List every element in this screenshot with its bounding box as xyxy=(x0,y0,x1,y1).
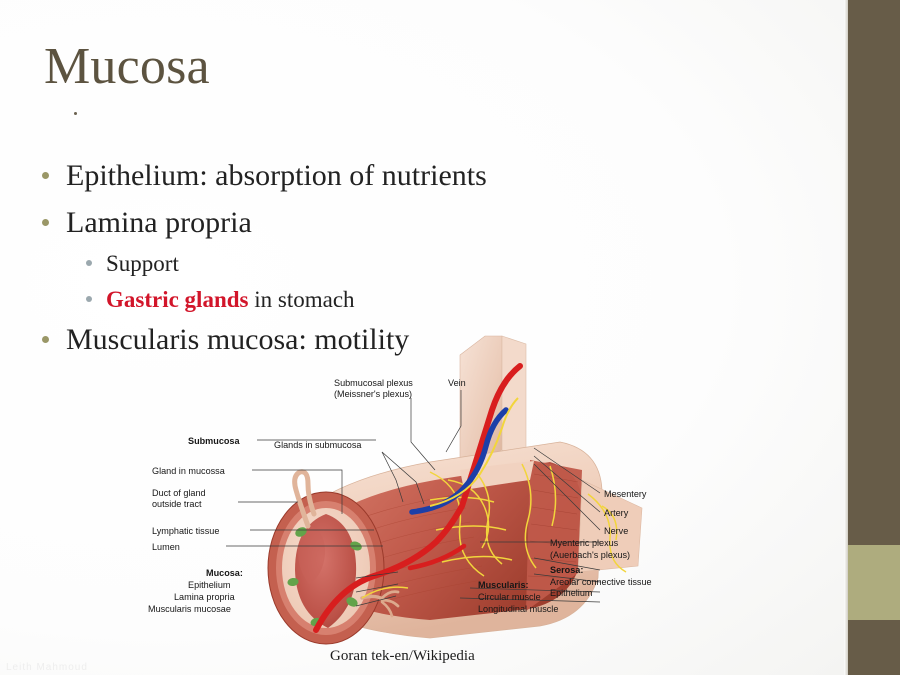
bullet-text: Support xyxy=(106,249,179,279)
bullet-item-epithelium: Epithelium: absorption of nutrients xyxy=(42,156,602,196)
label-nerve: Nerve xyxy=(604,526,628,536)
label-gland-in-mucossa: Gland in mucossa xyxy=(152,466,226,476)
label-mesentery: Mesentery xyxy=(604,489,647,499)
label-mucosa-head: Mucosa: xyxy=(206,568,243,578)
label-submucosal-plexus-line2: (Meissner's plexus) xyxy=(334,389,412,399)
title-underline-dot xyxy=(74,112,77,115)
label-serosa-areolar: Areolar connective tissue xyxy=(550,577,652,587)
slide-title: Mucosa xyxy=(44,40,210,95)
label-glands-in-submucosa: Glands in submucosa xyxy=(274,440,362,450)
slide: Mucosa Epithelium: absorption of nutrien… xyxy=(0,0,900,675)
label-duct-of-gland-line1: Duct of gland xyxy=(152,488,206,498)
label-myenteric-plexus-line1: Myenteric plexus xyxy=(550,538,619,548)
label-serosa-head: Serosa: xyxy=(550,565,583,575)
label-myenteric-plexus-line2: (Auerbach's plexus) xyxy=(550,550,630,560)
label-muscularis-circular: Circular muscle xyxy=(478,592,541,602)
label-serosa-epithelium: Epithelium xyxy=(550,588,592,598)
sidebar-band-dark-top xyxy=(848,0,900,545)
label-mucosa-epithelium: Epithelium xyxy=(188,580,230,590)
bullet-dot-icon xyxy=(42,336,49,343)
bullet-item-support: Support xyxy=(42,249,602,279)
bullet-text: Epithelium: absorption of nutrients xyxy=(66,156,487,196)
bullet-text-group: Gastric glands in stomach xyxy=(106,285,355,315)
bullet-highlight-term: Gastric glands xyxy=(106,287,248,312)
bullet-text-rest: in stomach xyxy=(248,287,354,312)
label-lumen: Lumen xyxy=(152,542,180,552)
sub-bullet-dot-icon xyxy=(86,296,92,302)
label-muscularis-head: Muscularis: xyxy=(478,580,529,590)
label-muscularis-longitudinal: Longitudinal muscle xyxy=(478,604,558,614)
bullet-dot-icon xyxy=(42,219,49,226)
bullet-item-gastric-glands: Gastric glands in stomach xyxy=(42,285,602,315)
bullet-item-lamina-propria: Lamina propria xyxy=(42,203,602,243)
label-artery: Artery xyxy=(604,508,629,518)
label-submucosa: Submucosa xyxy=(188,436,240,446)
bullet-dot-icon xyxy=(42,172,49,179)
sidebar-band-light xyxy=(848,545,900,620)
label-mucosa-muscularis-mucosae: Muscularis mucosae xyxy=(148,604,231,614)
mesentery-fold-back xyxy=(502,336,526,458)
sidebar-decoration xyxy=(844,0,900,675)
label-lymphatic-tissue: Lymphatic tissue xyxy=(152,526,219,536)
bullet-text: Lamina propria xyxy=(66,203,252,243)
label-vein: Vein xyxy=(448,378,466,388)
label-submucosal-plexus-line1: Submucosal plexus xyxy=(334,378,413,388)
label-mucosa-lamina-propria: Lamina propria xyxy=(174,592,236,602)
image-credit: Goran tek-en/Wikipedia xyxy=(330,648,475,665)
sidebar-band-dark-bottom xyxy=(848,620,900,675)
sub-bullet-dot-icon xyxy=(86,260,92,266)
label-duct-of-gland-line2: outside tract xyxy=(152,499,202,509)
watermark-text: Leith Mahmoud xyxy=(6,662,88,673)
gi-tract-wall-diagram: Submucosal plexus (Meissner's plexus) Ve… xyxy=(130,330,710,675)
